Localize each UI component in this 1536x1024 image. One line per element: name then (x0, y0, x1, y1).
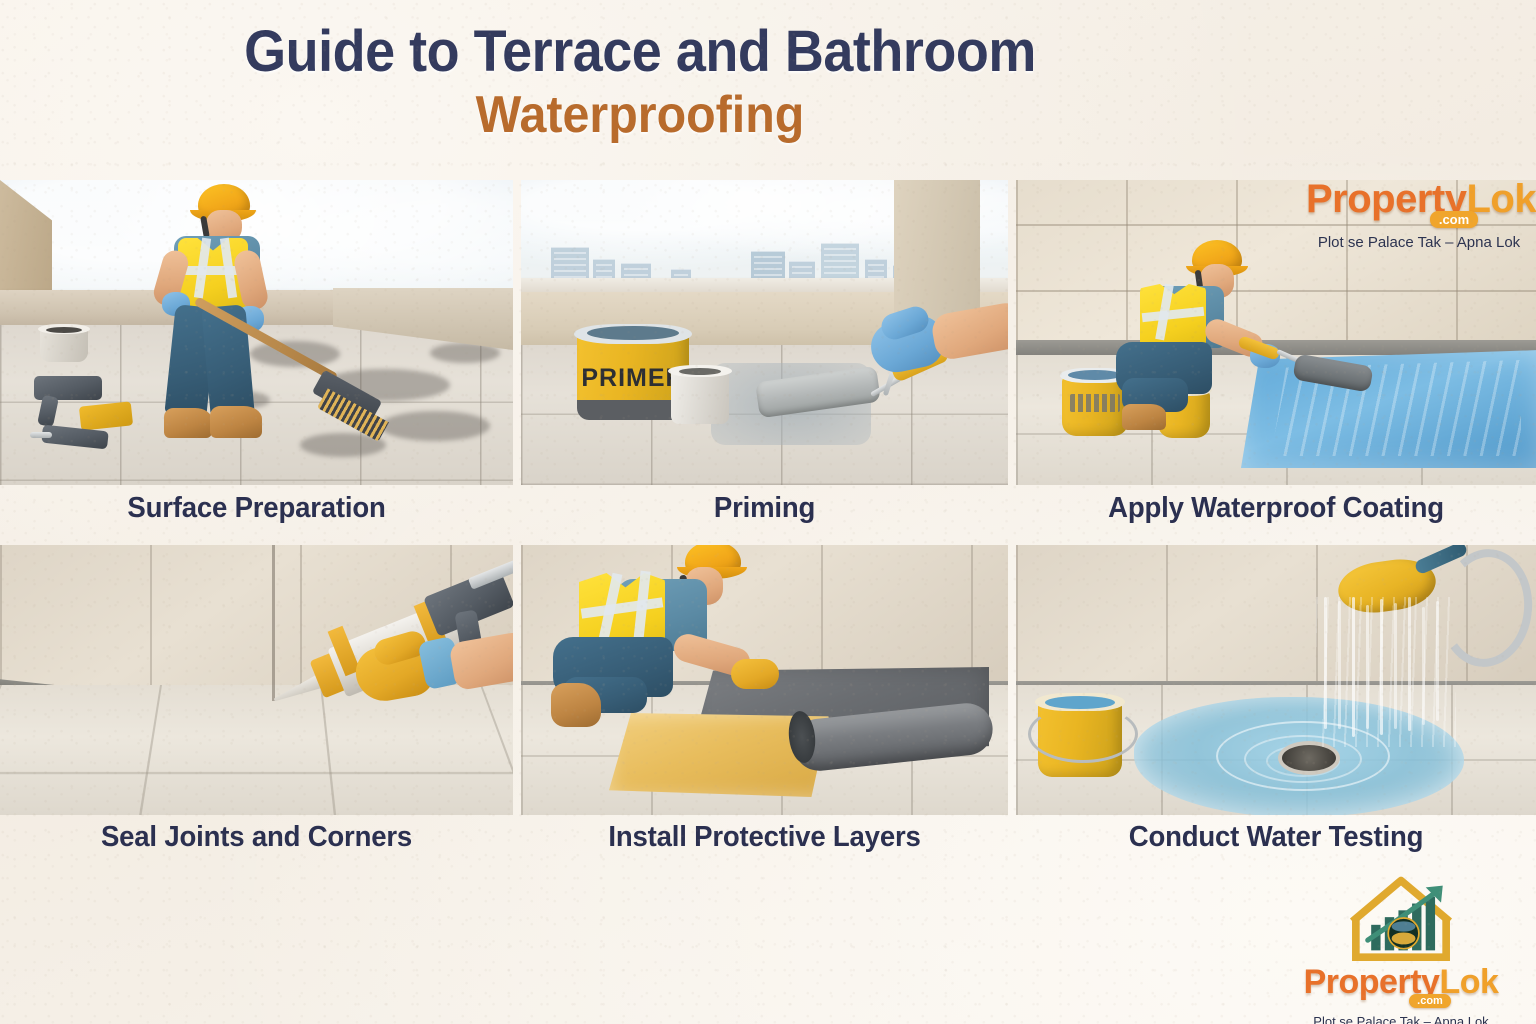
illustration-membrane (521, 545, 1008, 815)
step-caption-3: Apply Waterproof Coating (1029, 492, 1523, 525)
illustration-caulking (0, 545, 513, 815)
step-panel-protective-layers (521, 545, 1008, 815)
broom (196, 290, 396, 460)
captions-row-1: Surface Preparation Priming Apply Waterp… (0, 492, 1536, 548)
page-title: Guide to Terrace and Bathroom (45, 22, 1235, 81)
illustration-waterproof-coating: PropertyLok .com Plot se Palace Tak – Ap… (1016, 180, 1536, 485)
captions-row-2: Seal Joints and Corners Install Protecti… (0, 821, 1536, 877)
brand-logo-overlay[interactable]: PropertyLok .com Plot se Palace Tak – Ap… (1306, 180, 1532, 251)
step-caption-2: Priming (533, 492, 996, 525)
kneeling-worker (545, 545, 775, 745)
brand-tagline: Plot se Palace Tak – Apna Lok (1296, 1014, 1506, 1024)
step-panel-seal-joints (0, 545, 513, 815)
bucket-handle (1028, 705, 1138, 763)
illustration-priming: PRIMER (521, 180, 1008, 485)
steps-grid: PRIMER (0, 180, 1536, 860)
yellow-bucket (1038, 691, 1122, 777)
steps-row-2: Seal Joints and Corners Install Protecti… (0, 545, 1536, 815)
brand-tagline: Plot se Palace Tak – Apna Lok (1306, 234, 1532, 251)
brand-wordmark: PropertyLok (1296, 965, 1506, 999)
work-boot (1122, 404, 1166, 430)
bucket (40, 328, 88, 362)
step-panel-surface-preparation (0, 180, 513, 485)
illustration-terrace-sweeping (0, 180, 513, 485)
infographic-poster: Guide to Terrace and Bathroom Waterproof… (0, 0, 1536, 1024)
step-panel-water-testing (1016, 545, 1536, 815)
brand-wordmark: PropertyLok (1306, 180, 1532, 219)
step-caption-6: Conduct Water Testing (1029, 821, 1523, 854)
brand-logo-footer[interactable]: PropertyLok .com Plot se Palace Tak – Ap… (1296, 872, 1506, 1024)
work-boot (551, 683, 601, 727)
yellow-glove (356, 637, 513, 725)
water-spray (1316, 597, 1456, 747)
step-caption-5: Install Protective Layers (533, 821, 996, 854)
kneeling-worker (1108, 238, 1278, 428)
brand-dotcom: .com (1409, 994, 1451, 1008)
house-chart-logo-icon (1337, 872, 1465, 964)
paint-roller (1238, 338, 1388, 398)
steps-row-1: PRIMER (0, 180, 1536, 485)
small-can (671, 370, 729, 424)
title-block: Guide to Terrace and Bathroom Waterproof… (0, 22, 1280, 141)
glove (731, 659, 779, 689)
page-subtitle: Waterproofing (45, 89, 1235, 141)
step-panel-apply-coating: PropertyLok .com Plot se Palace Tak – Ap… (1016, 180, 1536, 485)
brand-dotcom: .com (1430, 211, 1478, 228)
step-caption-1: Surface Preparation (13, 492, 500, 525)
gloved-hand (871, 298, 1008, 386)
step-caption-4: Seal Joints and Corners (13, 821, 500, 854)
illustration-water-test (1016, 545, 1536, 815)
step-panel-priming: PRIMER (521, 180, 1008, 485)
